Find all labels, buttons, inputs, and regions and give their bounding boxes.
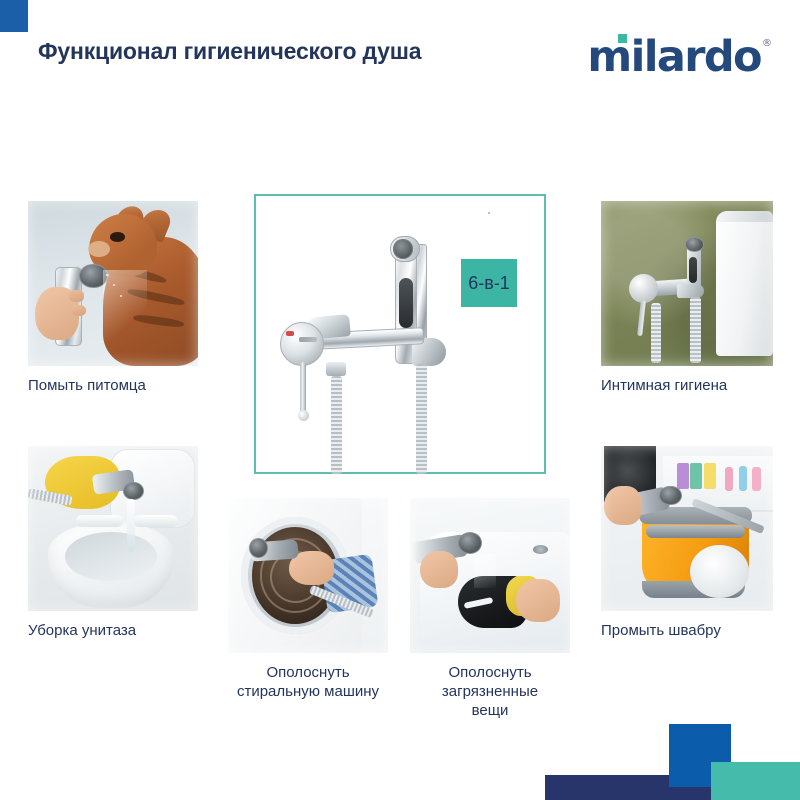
- mixer-brand-mark: [299, 337, 317, 342]
- page-title: Функционал гигиенического душа: [38, 36, 458, 67]
- corner-accent-teal-rect: [711, 762, 800, 800]
- card-washer-photo: [228, 498, 388, 653]
- card-washer: Ополоснуть стиральную машину: [228, 498, 388, 701]
- photo-edge-vignette: [410, 498, 570, 653]
- registered-trademark-icon: ®: [762, 38, 772, 49]
- brand-logo: milardo ®: [587, 36, 772, 79]
- card-toilet-photo: [28, 446, 198, 611]
- card-intimate: Интимная гигиена: [601, 201, 773, 395]
- spray-head-face: [393, 239, 413, 259]
- card-clothes-caption: Ополоснуть загрязненные вещи: [410, 663, 570, 721]
- card-mop: Промыть швабру: [601, 446, 773, 640]
- mixer-indicator-red: [286, 331, 294, 336]
- photo-edge-vignette: [601, 446, 773, 611]
- product-illustration: [256, 196, 544, 472]
- card-pet-caption: Помыть питомца: [28, 376, 198, 395]
- corner-accent-top-left: [0, 0, 28, 32]
- brand-logo-dot-icon: [618, 34, 627, 43]
- card-toilet-caption: Уборка унитаза: [28, 621, 198, 640]
- card-washer-caption: Ополоснуть стиральную машину: [228, 663, 388, 701]
- brand-logo-text: milardo: [587, 36, 761, 79]
- card-clothes-photo: [410, 498, 570, 653]
- card-toilet: Уборка унитаза: [28, 446, 198, 640]
- mixer-lever-handle: [300, 362, 306, 414]
- photo-edge-vignette: [28, 446, 198, 611]
- flex-hose-left: [331, 376, 342, 474]
- hose-connector-nut: [326, 362, 346, 376]
- card-intimate-photo: [601, 201, 773, 366]
- photo-edge-vignette: [601, 201, 773, 366]
- mixer-body: [280, 322, 324, 366]
- center-product-panel: 6-в-1: [254, 194, 546, 474]
- card-pet: Помыть питомца: [28, 201, 198, 395]
- card-intimate-caption: Интимная гигиена: [601, 376, 773, 395]
- photo-edge-vignette: [228, 498, 388, 653]
- card-mop-caption: Промыть швабру: [601, 621, 773, 640]
- photo-edge-vignette: [28, 201, 198, 366]
- flex-hose-right: [416, 364, 427, 474]
- infographic-page: Функционал гигиенического душа milardo ®: [0, 0, 800, 800]
- badge-label: 6-в-1: [468, 273, 510, 294]
- card-mop-photo: [601, 446, 773, 611]
- card-pet-photo: [28, 201, 198, 366]
- mixer-lever-tip: [298, 410, 309, 421]
- badge-6-in-1: 6-в-1: [461, 259, 517, 307]
- card-clothes: Ополоснуть загрязненные вещи: [410, 498, 570, 721]
- sprayer-grip: [399, 278, 413, 328]
